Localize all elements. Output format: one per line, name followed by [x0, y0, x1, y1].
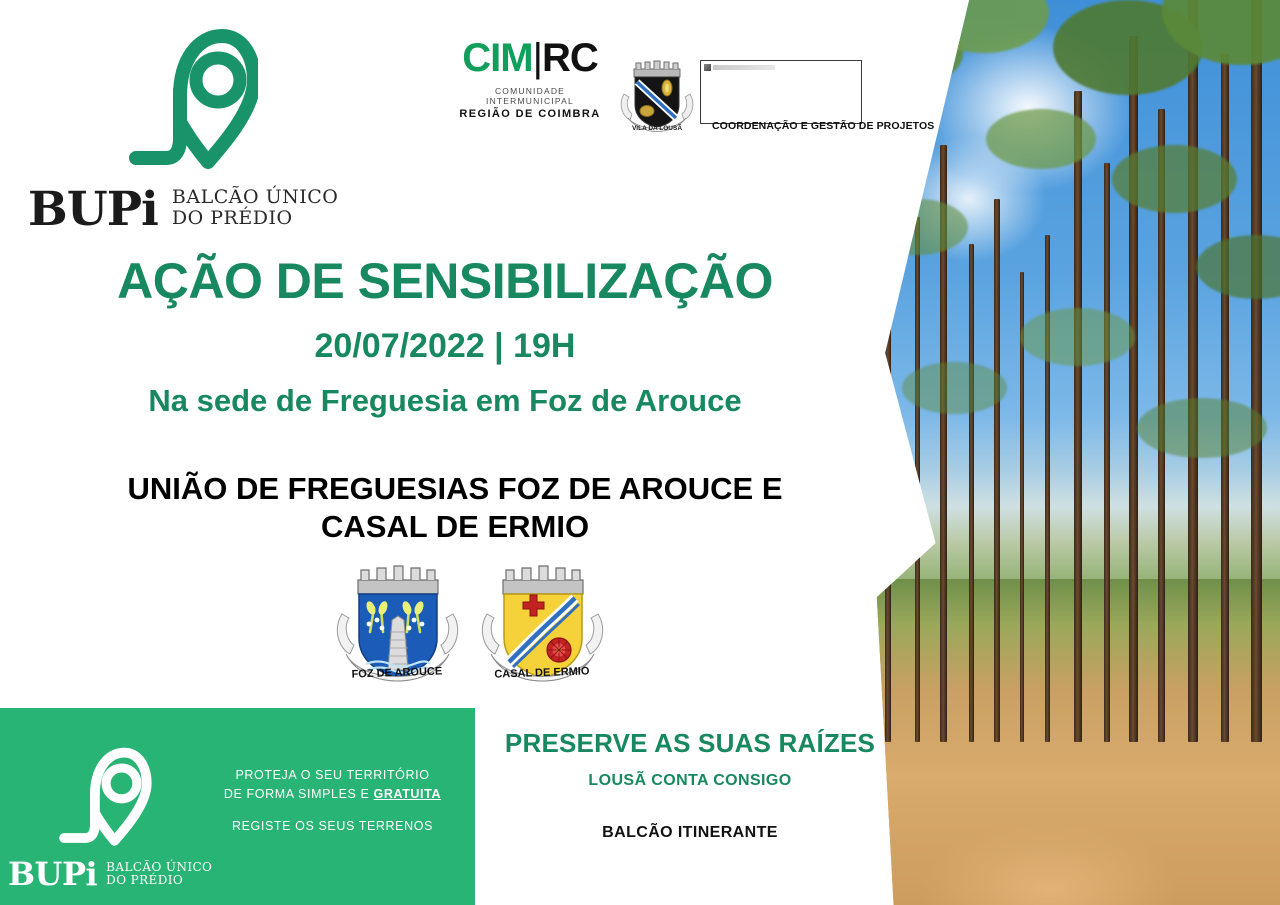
event-title: AÇÃO DE SENSIBILIZAÇÃO — [0, 252, 890, 310]
bupi-logo: BUPi BALCÃO ÚNICO DO PRÉDIO — [28, 18, 348, 233]
banner-message-line3: REGISTE OS SEUS TERRENOS — [215, 819, 450, 833]
bupi-tagline-line1: BALCÃO ÚNICO — [172, 187, 338, 208]
broken-image-placeholder[interactable] — [700, 60, 862, 124]
event-datetime: 20/07/2022 | 19H — [0, 327, 890, 366]
itinerant-desk-label: BALCÃO ITINERANTE — [470, 824, 910, 842]
bupi-tagline-line2: DO PRÉDIO — [172, 208, 338, 229]
banner-message-gratuita: GRATUITA — [374, 787, 442, 801]
parish-arms-row: FOZ DE AROUCE — [330, 558, 610, 703]
foz-de-arouce-ribbon-label: FOZ DE AROUCE — [351, 665, 442, 680]
broken-image-glyph — [704, 64, 711, 71]
banner-message-line2: DE FORMA SIMPLES E GRATUITA — [215, 785, 450, 804]
cimrc-logo: CIM|RC COMUNIDADE INTERMUNICIPAL REGIÃO … — [450, 38, 610, 120]
banner-bupi-wordmark: BUPi — [8, 859, 97, 889]
union-of-parishes-heading: UNIÃO DE FREGUESIAS FOZ DE AROUCE E CASA… — [20, 470, 890, 546]
banner-bupi-tagline-line1: BALCÃO ÚNICO — [106, 861, 212, 874]
tree-canopy — [860, 0, 1280, 905]
cimrc-cim-text: CIM — [462, 36, 532, 80]
banner-bupi-tagline-line2: DO PRÉDIO — [106, 874, 212, 887]
casal-de-ermio-coat-of-arms: CASAL DE ERMIO — [475, 558, 610, 703]
bupi-tagline: BALCÃO ÚNICO DO PRÉDIO — [172, 187, 338, 233]
banner-bupi-tagline: BALCÃO ÚNICO DO PRÉDIO — [106, 861, 212, 890]
union-line-2: CASAL DE ERMIO — [20, 508, 890, 546]
casal-de-ermio-ribbon-label: CASAL DE ERMIO — [494, 665, 590, 680]
union-line-1: UNIÃO DE FREGUESIAS FOZ DE AROUCE E — [20, 470, 890, 508]
bupi-promo-banner: BUPi BALCÃO ÚNICO DO PRÉDIO PROTEJA O SE… — [0, 708, 475, 905]
cimrc-wordmark: CIM|RC — [450, 38, 610, 78]
forest-photo — [860, 0, 1280, 905]
event-venue: Na sede de Freguesia em Foz de Arouce — [0, 383, 890, 419]
lousa-arms-ribbon-label: VILA DA LOUSÃ — [632, 123, 682, 132]
bupi-wordmark: BUPi — [28, 188, 158, 233]
lousa-slogan: LOUSÃ CONTA CONSIGO — [470, 772, 910, 790]
poster-canvas: BUPi BALCÃO ÚNICO DO PRÉDIO CIM|RC COMUN… — [0, 0, 1280, 905]
banner-message-line2-prefix: DE FORMA SIMPLES E — [224, 787, 374, 801]
broken-image-alt-bar — [713, 65, 775, 70]
bupi-pin-icon — [118, 18, 348, 183]
banner-message: PROTEJA O SEU TERRITÓRIO DE FORMA SIMPLE… — [215, 766, 450, 833]
banner-bupi-logo: BUPi BALCÃO ÚNICO DO PRÉDIO — [48, 740, 212, 889]
broken-image-alt-icon — [704, 64, 775, 71]
preserve-roots-slogan: PRESERVE AS SUAS RAÍZES — [470, 728, 910, 759]
cimrc-subtitle-line2: REGIÃO DE COIMBRA — [450, 108, 610, 120]
cimrc-divider: | — [533, 36, 542, 80]
banner-message-line1: PROTEJA O SEU TERRITÓRIO — [215, 766, 450, 785]
cimrc-rc-text: RC — [542, 36, 598, 80]
cimrc-subtitle-line1: COMUNIDADE INTERMUNICIPAL — [450, 86, 610, 106]
vila-da-lousa-coat-of-arms: VILA DA LOUSÃ — [618, 56, 696, 138]
foz-de-arouce-coat-of-arms: FOZ DE AROUCE — [330, 558, 465, 703]
coordination-caption: COORDENAÇÃO E GESTÃO DE PROJETOS — [712, 120, 912, 132]
